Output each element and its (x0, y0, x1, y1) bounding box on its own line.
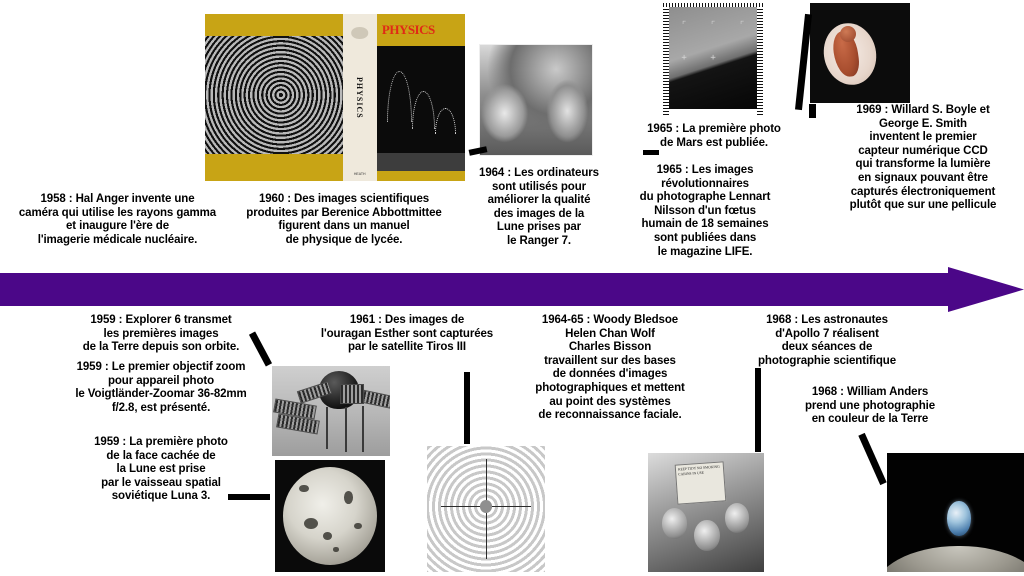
caption-1960-abbott: 1960 : Des images scientifiques produite… (224, 193, 464, 247)
connector-anders (858, 433, 886, 485)
connector-nilsson (809, 104, 816, 118)
connector-mars-label (643, 150, 659, 155)
photo-hurricane-esther (427, 446, 545, 572)
caption-1965-nilsson: 1965 : Les images révolutionnaires du ph… (615, 164, 795, 259)
photo-ranger-team (479, 44, 593, 156)
photo-luna3-moon (275, 460, 385, 572)
caption-1969-ccd: 1969 : Willard S. Boyle et George E. Smi… (822, 104, 1024, 213)
book-spine-footer: HEATH (354, 172, 366, 176)
photo-tiros-satellite (272, 366, 390, 456)
apollo-note-text: KEEP TIDY NO SMOKING CABINS IN USE (674, 461, 725, 505)
caption-1964-ranger7: 1964 : Les ordinateurs sont utilisés pou… (469, 167, 609, 249)
timeline-arrow-shaft (0, 273, 955, 306)
connector-tiros3 (464, 372, 470, 444)
caption-1959-voigtlander: 1959 : Le premier objectif zoom pour app… (53, 361, 269, 415)
book-spine-text: PHYSICS (355, 77, 364, 119)
photo-fetus (810, 3, 910, 103)
photo-apollo7-crew: KEEP TIDY NO SMOKING CABINS IN USE (648, 453, 764, 572)
photo-physics-book: PHYSICS HEATH PHYSICS (205, 14, 465, 181)
caption-1968-apollo7: 1968 : Les astronautes d'Apollo 7 réalis… (737, 314, 917, 368)
caption-1958-anger: 1958 : Hal Anger invente une caméra qui … (0, 193, 235, 247)
timeline-arrow (0, 267, 1024, 312)
caption-1965-mars: 1965 : La première photo de Mars est pub… (630, 123, 798, 150)
photo-earthrise (887, 453, 1024, 572)
infographic-canvas: PHYSICS HEATH PHYSICS ⌜ ⌜ ⌜ + + (0, 0, 1024, 576)
connector-luna3 (228, 494, 270, 500)
connector-apollo7 (755, 368, 761, 452)
book-cover-title: PHYSICS (382, 22, 435, 38)
caption-1964-65-facial: 1964-65 : Woody Bledsoe Helen Chan Wolf … (512, 314, 708, 423)
caption-1961-tiros3: 1961 : Des images de l'ouragan Esther so… (307, 314, 507, 355)
caption-1968-anders: 1968 : William Anders prend une photogra… (780, 386, 960, 427)
caption-1959-explorer6: 1959 : Explorer 6 transmet les premières… (53, 314, 269, 355)
timeline-arrow-head (948, 267, 1024, 312)
photo-mars: ⌜ ⌜ ⌜ + + (663, 3, 763, 115)
